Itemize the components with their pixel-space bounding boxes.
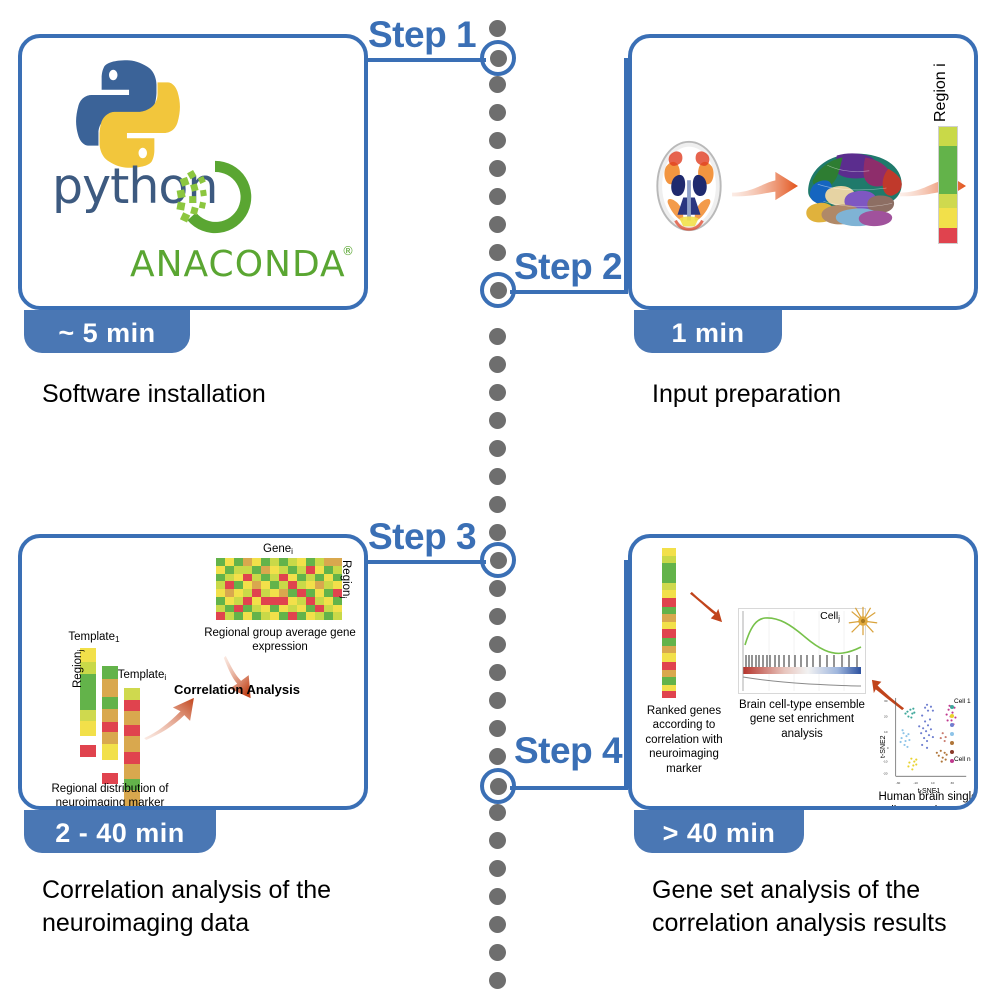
heatmap-cell xyxy=(324,597,333,605)
heatmap-cell xyxy=(315,589,324,597)
timeline-dot xyxy=(489,804,506,821)
timeline-dot xyxy=(489,440,506,457)
timeline-dot xyxy=(489,496,506,513)
heatmap-cell xyxy=(315,574,324,582)
svg-text:-20: -20 xyxy=(883,771,888,775)
step1-duration-pill: ~ 5 min xyxy=(24,310,190,353)
heatmap-cell xyxy=(270,612,279,620)
svg-text:10: 10 xyxy=(931,781,935,785)
ranked-to-gsea-arrow xyxy=(688,590,724,624)
heatmap-cell xyxy=(270,558,279,566)
heatmap-cell xyxy=(225,566,234,574)
heatmap-cell xyxy=(333,612,342,620)
heatmap-cell xyxy=(234,581,243,589)
timeline-dot xyxy=(489,188,506,205)
heatmap-cell xyxy=(306,605,315,613)
step1-duration-label: ~ 5 min xyxy=(58,318,155,349)
heatmap-cell xyxy=(270,566,279,574)
heatmap-cell xyxy=(234,574,243,582)
heatmap-cell xyxy=(234,612,243,620)
template1-label: Template1 xyxy=(52,630,136,645)
heatmap-cell xyxy=(297,581,306,589)
connector-step2-h xyxy=(510,290,628,294)
heatmap-cell xyxy=(234,566,243,574)
heatmap-cell xyxy=(252,612,261,620)
heatmap-cell xyxy=(261,612,270,620)
timeline-dot xyxy=(489,76,506,93)
timeline-dot xyxy=(489,412,506,429)
heatmap-cell xyxy=(297,605,306,613)
heatmap-cell xyxy=(306,612,315,620)
heatmap-cell xyxy=(243,574,252,582)
timeline-marker-dot xyxy=(490,778,507,795)
timeline-dot xyxy=(489,524,506,541)
heatmap-cell xyxy=(225,589,234,597)
heatmap-cell xyxy=(243,566,252,574)
heatmap-cell xyxy=(315,566,324,574)
heatmap-cell xyxy=(252,574,261,582)
heatmap-cell xyxy=(324,566,333,574)
timeline-dot xyxy=(489,664,506,681)
timeline-dot xyxy=(489,972,506,989)
heatmap-cell xyxy=(288,566,297,574)
step3-card[interactable]: Genei Regionj Regional group average gen… xyxy=(18,534,368,810)
timeline-dot xyxy=(489,468,506,485)
step3-step-label: Step 3 xyxy=(368,516,476,558)
heatmap-cell xyxy=(279,589,288,597)
connector-step3 xyxy=(364,560,486,564)
step4-duration-pill: > 40 min xyxy=(634,810,804,853)
heatmap-cell xyxy=(333,605,342,613)
heatmap-cell xyxy=(261,581,270,589)
heatmap-cell xyxy=(261,589,270,597)
heatmap-cell xyxy=(252,581,261,589)
heatmap-cell xyxy=(306,589,315,597)
timeline-dot xyxy=(489,888,506,905)
heatmap-cell xyxy=(216,581,225,589)
timeline-dot xyxy=(489,720,506,737)
heatmap-cell xyxy=(279,612,288,620)
heatmap-cell xyxy=(261,558,270,566)
axial-mri-icon xyxy=(650,138,728,234)
step4-caption: Gene set analysis of the correlation ana… xyxy=(652,874,972,940)
region-axis-label-step3: Regionj xyxy=(72,650,85,688)
registered-mark: ® xyxy=(342,244,355,258)
heatmap-cell xyxy=(306,558,315,566)
svg-text:-10: -10 xyxy=(913,781,918,785)
svg-text:10: 10 xyxy=(884,730,888,734)
timeline-dot xyxy=(489,216,506,233)
heatmap-cell xyxy=(225,605,234,613)
svg-text:20: 20 xyxy=(884,715,888,719)
heatmap-cell xyxy=(279,566,288,574)
heatmap-cell xyxy=(216,574,225,582)
heatmap-cell xyxy=(297,558,306,566)
heatmap-cell xyxy=(279,558,288,566)
heatmap-cell xyxy=(324,574,333,582)
tsne-legend-first-label: Cell 1 xyxy=(954,698,978,706)
heatmap-cell xyxy=(243,558,252,566)
heatmap-cell xyxy=(252,589,261,597)
heatmap-cell xyxy=(288,597,297,605)
timeline-dot xyxy=(489,104,506,121)
template-middle-strip xyxy=(102,666,118,796)
heatmap-cell xyxy=(297,597,306,605)
heatmap-cell xyxy=(297,589,306,597)
region-axis-label: Region i xyxy=(932,63,950,122)
timeline-marker-dot xyxy=(490,50,507,67)
heatmap-cell xyxy=(216,566,225,574)
timeline-dot xyxy=(489,384,506,401)
step3-duration-pill: 2 - 40 min xyxy=(24,810,216,853)
timeline-dot xyxy=(489,748,506,765)
heatmap-cell xyxy=(225,581,234,589)
step4-duration-label: > 40 min xyxy=(663,818,776,849)
timeline-dot xyxy=(489,916,506,933)
step4-step-label: Step 4 xyxy=(514,730,622,772)
heatmap-cell xyxy=(270,574,279,582)
heatmap-cell xyxy=(216,605,225,613)
region-colorbar xyxy=(938,126,958,244)
tsne-legend-last-label: Cell n xyxy=(954,756,978,764)
heatmap-cell xyxy=(306,581,315,589)
heatmap-cell xyxy=(225,574,234,582)
heatmap-cell xyxy=(252,605,261,613)
heatmap-col-label: Genei xyxy=(248,542,308,557)
connector-step1 xyxy=(364,58,486,62)
heatmap-cell xyxy=(270,597,279,605)
heatmap-cell xyxy=(279,581,288,589)
heatmap-cell xyxy=(270,605,279,613)
timeline-dot xyxy=(489,20,506,37)
heatmap-cell xyxy=(288,612,297,620)
tsne-ylabel: t-SNE2 xyxy=(880,735,887,758)
heatmap-cell xyxy=(234,558,243,566)
timeline-marker-dot xyxy=(490,282,507,299)
timeline-dot xyxy=(489,608,506,625)
heatmap-cell xyxy=(234,597,243,605)
step2-card[interactable]: Region i xyxy=(628,34,978,310)
heatmap-cell xyxy=(234,605,243,613)
heatmap-cell xyxy=(225,612,234,620)
heatmap-cell xyxy=(315,558,324,566)
heatmap-cell xyxy=(288,589,297,597)
timeline-dot xyxy=(489,944,506,961)
strips-to-correlation-arrow xyxy=(142,696,198,740)
gene-expression-heatmap xyxy=(216,558,342,620)
heatmap-cell xyxy=(261,566,270,574)
svg-text:-10: -10 xyxy=(883,760,888,764)
heatmap-cell xyxy=(306,566,315,574)
strip-caption: Regional distribution of neuroimaging ma… xyxy=(40,782,180,810)
heatmap-cell xyxy=(225,597,234,605)
heatmap-cell xyxy=(252,558,261,566)
svg-text:0: 0 xyxy=(887,746,889,750)
heatmap-cell xyxy=(306,574,315,582)
gsea-cell-label: Cellj xyxy=(808,610,852,623)
heatmap-cell xyxy=(243,581,252,589)
heatmap-cell xyxy=(243,612,252,620)
svg-text:-30: -30 xyxy=(896,781,901,785)
workflow-timeline xyxy=(483,0,513,996)
timeline-dot xyxy=(489,832,506,849)
step1-step-label: Step 1 xyxy=(368,14,476,56)
svg-text:30: 30 xyxy=(951,781,955,785)
step2-caption: Input preparation xyxy=(652,378,982,411)
heatmap-cell xyxy=(279,574,288,582)
correlation-analysis-label: Correlation Analysis xyxy=(172,682,302,698)
heatmap-cell xyxy=(216,612,225,620)
heatmap-cell xyxy=(261,574,270,582)
timeline-dot xyxy=(489,356,506,373)
timeline-marker-dot xyxy=(490,552,507,569)
heatmap-cell xyxy=(261,605,270,613)
heatmap-cell xyxy=(324,605,333,613)
heatmap-cell xyxy=(216,558,225,566)
timeline-dot xyxy=(489,328,506,345)
timeline-dot xyxy=(489,692,506,709)
heatmap-cell xyxy=(216,589,225,597)
heatmap-cell xyxy=(252,566,261,574)
heatmap-cell xyxy=(270,581,279,589)
ranked-genes-strip xyxy=(662,548,676,698)
heatmap-cell xyxy=(243,605,252,613)
step2-duration-pill: 1 min xyxy=(634,310,782,353)
heatmap-row-label: Regionj xyxy=(339,560,352,598)
heatmap-cell xyxy=(243,597,252,605)
heatmap-cell xyxy=(288,581,297,589)
python-logo xyxy=(70,56,186,172)
step4-card[interactable]: Ranked genes according to correlation wi… xyxy=(628,534,978,810)
heatmap-col-sub: i xyxy=(291,547,293,556)
heatmap-cell xyxy=(315,597,324,605)
heatmap-cell xyxy=(324,581,333,589)
heatmap-cell xyxy=(306,597,315,605)
heatmap-cell xyxy=(243,589,252,597)
timeline-dot xyxy=(489,580,506,597)
timeline-dot xyxy=(489,860,506,877)
step1-caption: Software installation xyxy=(42,378,372,411)
timeline-dot xyxy=(489,636,506,653)
heatmap-cell xyxy=(315,612,324,620)
gsea-caption: Brain cell-type ensemble gene set enrich… xyxy=(732,698,872,741)
heatmap-cell xyxy=(216,597,225,605)
heatmap-cell xyxy=(315,605,324,613)
heatmap-cell xyxy=(324,558,333,566)
heatmap-cell xyxy=(234,589,243,597)
heatmap-cell xyxy=(324,589,333,597)
anaconda-logo xyxy=(172,154,258,240)
heatmap-cell xyxy=(261,597,270,605)
step3-caption: Correlation analysis of the neuroimaging… xyxy=(42,874,362,940)
heatmap-cell xyxy=(297,574,306,582)
heatmap-cell xyxy=(315,581,324,589)
ranked-genes-caption: Ranked genes according to correlation wi… xyxy=(634,704,734,776)
heatmap-cell xyxy=(297,612,306,620)
tsne-caption: Human brain single cell transcriptomics xyxy=(876,790,978,810)
timeline-dot xyxy=(489,244,506,261)
heatmap-cell xyxy=(297,566,306,574)
heatmap-cell xyxy=(279,605,288,613)
connector-step4-h xyxy=(510,786,628,790)
heatmap-cell xyxy=(252,597,261,605)
step2-step-label: Step 2 xyxy=(514,246,622,288)
pipeline-arrow-1 xyxy=(732,164,798,208)
svg-text:30: 30 xyxy=(884,699,888,703)
heatmap-cell xyxy=(279,597,288,605)
step3-duration-label: 2 - 40 min xyxy=(55,818,185,849)
parcellated-brain-icon xyxy=(794,146,914,230)
heatmap-cell xyxy=(270,589,279,597)
step2-duration-label: 1 min xyxy=(671,318,744,349)
timeline-dot xyxy=(489,132,506,149)
heatmap-cell xyxy=(288,558,297,566)
heatmap-cell xyxy=(288,605,297,613)
heatmap-cell xyxy=(225,558,234,566)
heatmap-caption: Regional group average gene expression xyxy=(200,626,360,655)
heatmap-cell xyxy=(324,612,333,620)
step1-card[interactable]: python ANACONDA ® xyxy=(18,34,368,310)
timeline-dot xyxy=(489,160,506,177)
heatmap-cell xyxy=(288,574,297,582)
